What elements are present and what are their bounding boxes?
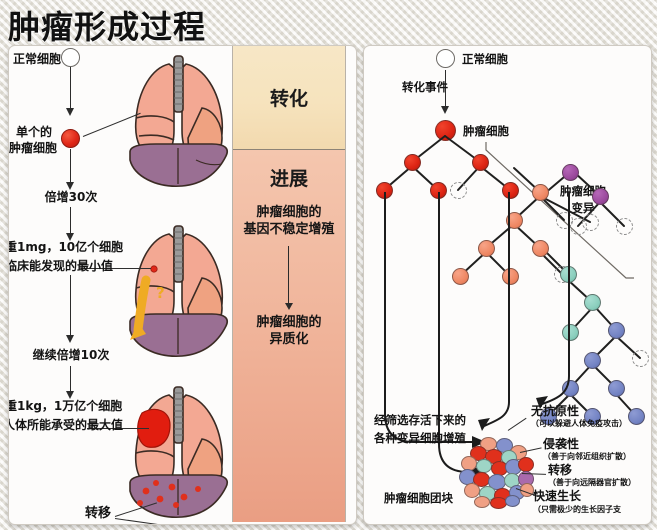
- normal-cell-circle: [61, 48, 80, 67]
- right-label-selection-line2: 各种变异细胞增殖: [374, 431, 466, 446]
- tree-node-red-2: [472, 154, 489, 171]
- flow-arrow-2: [70, 149, 71, 184]
- flow-arrow-3: [70, 207, 71, 235]
- single-tumor-cell-circle: [61, 129, 80, 148]
- anatomy-lung-liver-stage2: ?: [112, 218, 248, 368]
- trait-name-4: 快速生长: [533, 489, 581, 505]
- stage-column: 转化 进展 肿瘤细胞的 基因不稳定增殖 肿瘤细胞的 异质化: [232, 46, 346, 522]
- page-title: 肿瘤形成过程: [8, 2, 206, 48]
- stage-heterogeneity-line1: 肿瘤细胞的: [233, 314, 345, 331]
- trait-desc-2: （善于向邻近组织扩散）: [543, 452, 631, 462]
- tree-node-red-1: [404, 154, 421, 171]
- label-single-tumor-cell-line2: 肿瘤细胞: [9, 140, 59, 156]
- anatomy-lung-liver-stage1: [112, 48, 248, 198]
- stage-transformation-block: 转化: [233, 46, 345, 150]
- label-doubling-30: 倍增30次: [23, 189, 119, 205]
- trait-name-1: 无抗原性: [531, 404, 579, 420]
- label-stage-1mg-line1: 重1mg，10亿个细胞: [9, 239, 123, 255]
- mass-cell: [505, 495, 520, 507]
- trait-desc-1: （可以躲避人体免疫攻击）: [531, 419, 627, 429]
- flow-arrow-4: [70, 275, 71, 337]
- stage-transformation-label: 转化: [233, 84, 345, 111]
- label-metastasis: 转移: [85, 505, 111, 523]
- stage-progression-block: 进展 肿瘤细胞的 基因不稳定增殖 肿瘤细胞的 异质化: [233, 150, 345, 522]
- anatomy-lung-liver-stage3: [112, 379, 248, 524]
- right-label-selection-line1: 经筛选存活下来的: [374, 413, 466, 428]
- trait-name-3: 转移: [548, 463, 572, 479]
- label-doubling-10: 继续倍增10次: [15, 347, 127, 363]
- svg-text:?: ?: [156, 284, 165, 302]
- label-stage-1mg-line2: 临床能发现的最小值: [9, 258, 113, 274]
- stage-progression-sub-line1: 肿瘤细胞的: [233, 204, 345, 221]
- stage-heterogeneity-line2: 异质化: [233, 331, 345, 348]
- trait-desc-4: （只需极少的生长因子支: [533, 505, 621, 515]
- label-stage-1kg-line2: 人体所能承受的最大值: [9, 417, 123, 433]
- flow-arrow-1: [70, 66, 71, 110]
- mass-cell: [474, 496, 490, 508]
- label-normal-cell: 正常细胞: [13, 51, 61, 67]
- trait-name-2: 侵袭性: [543, 437, 579, 453]
- right-label-tumor-mass: 肿瘤细胞团块: [384, 491, 453, 506]
- tree-node-purple-1: [562, 164, 579, 181]
- stage-progression-arrow: [288, 246, 289, 304]
- mass-cell: [476, 459, 492, 473]
- label-single-tumor-cell-line1: 单个的: [9, 124, 59, 140]
- trait-desc-3: （善于向远隔器官扩散）: [548, 478, 636, 488]
- label-stage-1kg-line1: 重1kg，1万亿个细胞: [9, 398, 122, 414]
- flow-arrow-5: [70, 366, 71, 393]
- mass-cell: [518, 457, 534, 472]
- stage-progression-label: 进展: [233, 164, 345, 191]
- stage-progression-sub-line2: 基因不稳定增殖: [233, 221, 345, 238]
